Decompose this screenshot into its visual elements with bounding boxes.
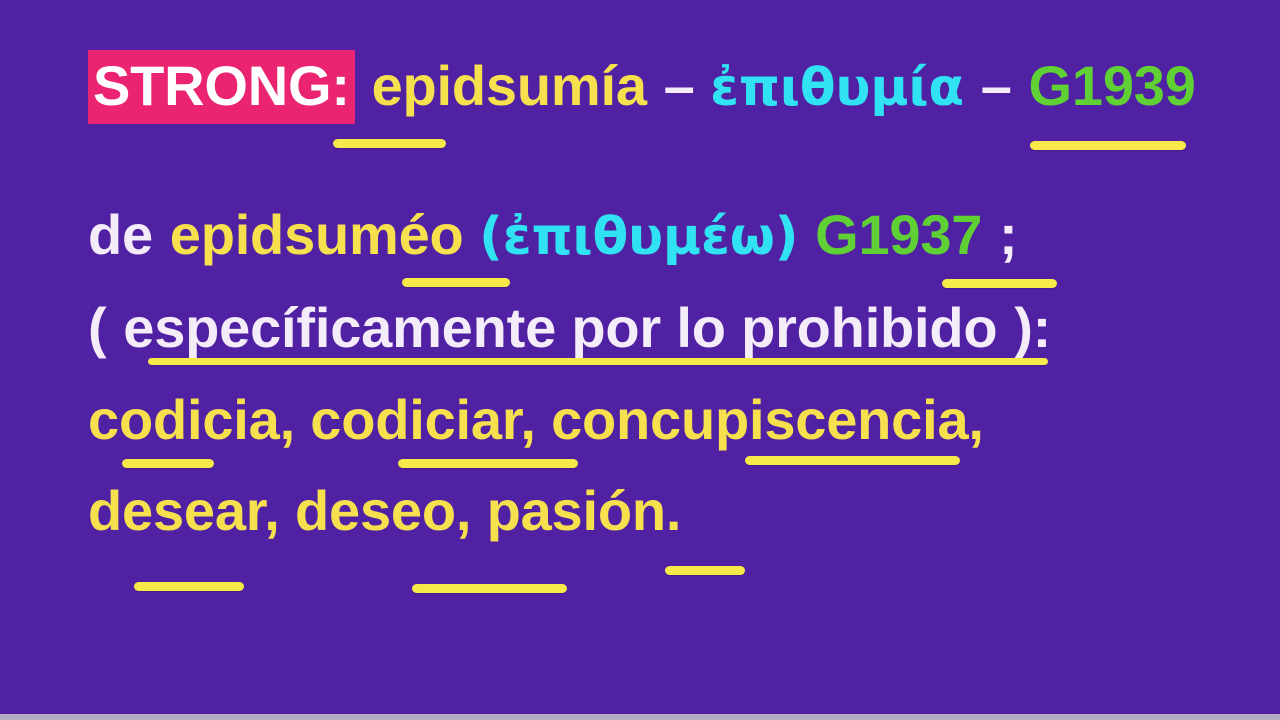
strong-number-g1939: G1939: [1029, 54, 1196, 117]
slide-canvas: STRONG:epidsumía–ἐπιθυμία–G1939 deepidsu…: [0, 0, 1280, 720]
entry-headword-line: STRONG:epidsumía–ἐπιθυμία–G1939: [88, 58, 1196, 114]
underline-epidsumia: [333, 139, 446, 148]
entry-definitions-line-2: desear, deseo, pasión.: [88, 483, 681, 539]
headword-greek: ἐπιθυμία: [710, 58, 964, 118]
gloss-close-paren: ):: [1014, 296, 1051, 359]
underline-codiciar: [398, 459, 578, 468]
underline-g1937: [942, 279, 1057, 288]
underline-epidsumeo: [402, 278, 510, 287]
semicolon-punctuation: ;: [999, 203, 1017, 266]
dash-separator-2: –: [981, 54, 1012, 117]
dash-separator-1: –: [664, 54, 695, 117]
bottom-border-strip: [0, 714, 1280, 720]
entry-gloss-line: (específicamente por lo prohibido):: [88, 300, 1051, 356]
strong-number-g1937: G1937: [815, 203, 982, 266]
gloss-text: específicamente por lo prohibido: [123, 296, 997, 359]
strong-badge: STRONG:: [88, 50, 355, 124]
underline-g1939: [1030, 141, 1186, 150]
underline-pasion: [665, 566, 745, 575]
root-greek: (ἐπιθυμέω): [479, 207, 798, 267]
underline-concupiscencia: [745, 456, 960, 465]
entry-definitions-line-1: codicia, codiciar, concupiscencia,: [88, 392, 984, 448]
root-transliteration: epidsuméo: [170, 203, 464, 266]
etymology-preposition: de: [88, 203, 153, 266]
underline-deseo: [412, 584, 567, 593]
underline-desear: [134, 582, 244, 591]
headword-transliteration: epidsumía: [372, 54, 647, 117]
gloss-open-paren: (: [88, 296, 106, 359]
underline-codicia: [122, 459, 214, 468]
entry-etymology-line: deepidsuméo(ἐπιθυμέω)G1937;: [88, 207, 1017, 263]
underline-especificamente: [148, 358, 1048, 365]
